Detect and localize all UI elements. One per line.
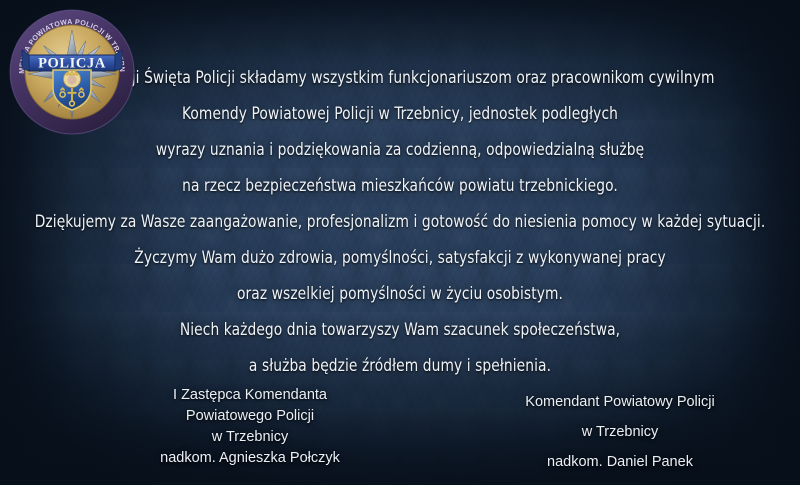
- signature-line: Komendant Powiatowy Policji: [460, 387, 780, 417]
- signature-deputy-commander: I Zastępca Komendanta Powiatowego Policj…: [110, 385, 390, 469]
- signature-commander: Komendant Powiatowy Policji w Trzebnicy …: [460, 387, 780, 477]
- message-line: Komendy Powiatowej Policji w Trzebnicy, …: [28, 96, 772, 132]
- message-line: Niech każdego dnia towarzyszy Wam szacun…: [28, 312, 772, 348]
- police-badge-emblem-icon: KOMENDA POWIATOWA POLICJI W TRZEBNICY: [8, 8, 136, 136]
- signature-line: I Zastępca Komendanta: [110, 385, 390, 406]
- message-line: Dziękujemy za Wasze zaangażowanie, profe…: [28, 204, 772, 240]
- signature-line: Powiatowego Policji: [110, 406, 390, 427]
- signature-line: w Trzebnicy: [460, 417, 780, 447]
- signature-block: I Zastępca Komendanta Powiatowego Policj…: [0, 385, 800, 485]
- message-line: Z okazji Święta Policji składamy wszystk…: [28, 60, 772, 96]
- message-line: a służba będzie źródłem dumy i spełnieni…: [28, 348, 772, 384]
- message-line: Życzymy Wam dużo zdrowia, pomyślności, s…: [28, 240, 772, 276]
- signature-line: w Trzebnicy: [110, 427, 390, 448]
- message-line: na rzecz bezpieczeństwa mieszkańców powi…: [28, 168, 772, 204]
- signature-line: nadkom. Daniel Panek: [460, 447, 780, 477]
- greeting-card: KOMENDA POWIATOWA POLICJI W TRZEBNICY: [0, 0, 800, 485]
- message-line: wyrazy uznania i podziękowania za codzie…: [28, 132, 772, 168]
- badge-banner-label: POLICJA: [38, 56, 106, 72]
- signature-line: nadkom. Agnieszka Połczyk: [110, 448, 390, 469]
- message-line: oraz wszelkiej pomyślności w życiu osobi…: [28, 276, 772, 312]
